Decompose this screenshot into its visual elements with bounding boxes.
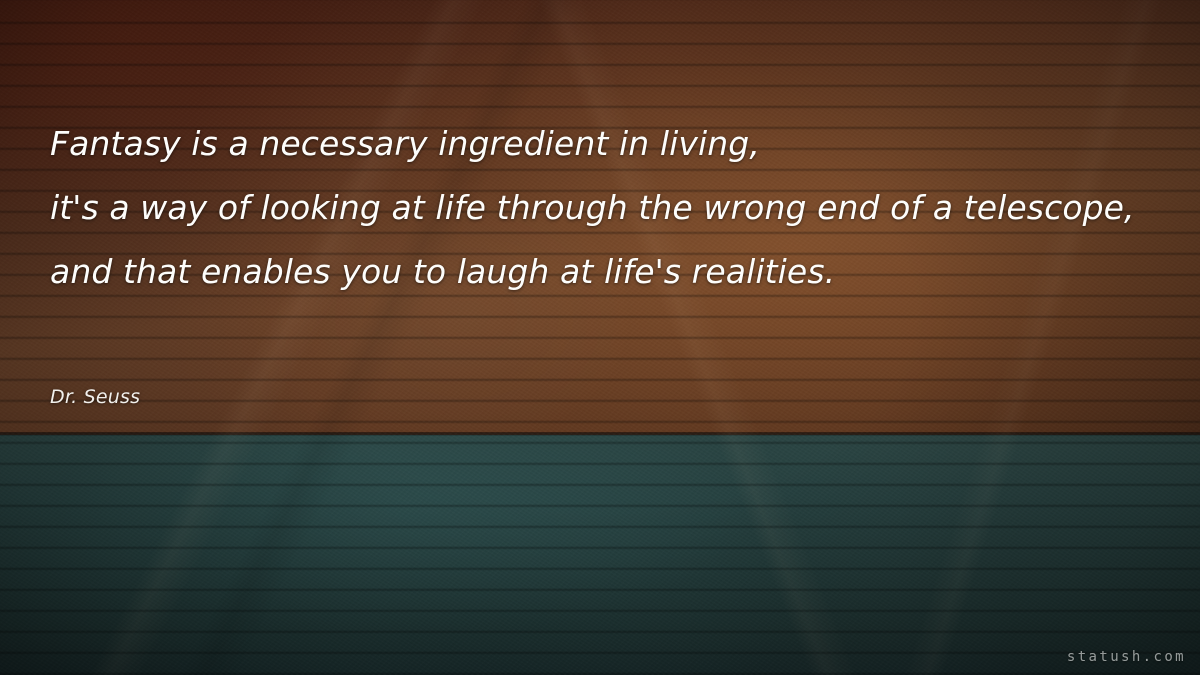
quote-line-1: Fantasy is a necessary ingredient in liv… [50,112,1160,176]
poster-content: Fantasy is a necessary ingredient in liv… [0,0,1200,675]
quote-line-3: and that enables you to laugh at life's … [50,240,1160,304]
quote-line-2: it's a way of looking at life through th… [50,176,1160,240]
quote-author: Dr. Seuss [50,384,140,410]
quote-poster: Fantasy is a necessary ingredient in liv… [0,0,1200,675]
site-watermark: statush.com [1067,648,1186,666]
quote-text-block: Fantasy is a necessary ingredient in liv… [50,112,1160,304]
